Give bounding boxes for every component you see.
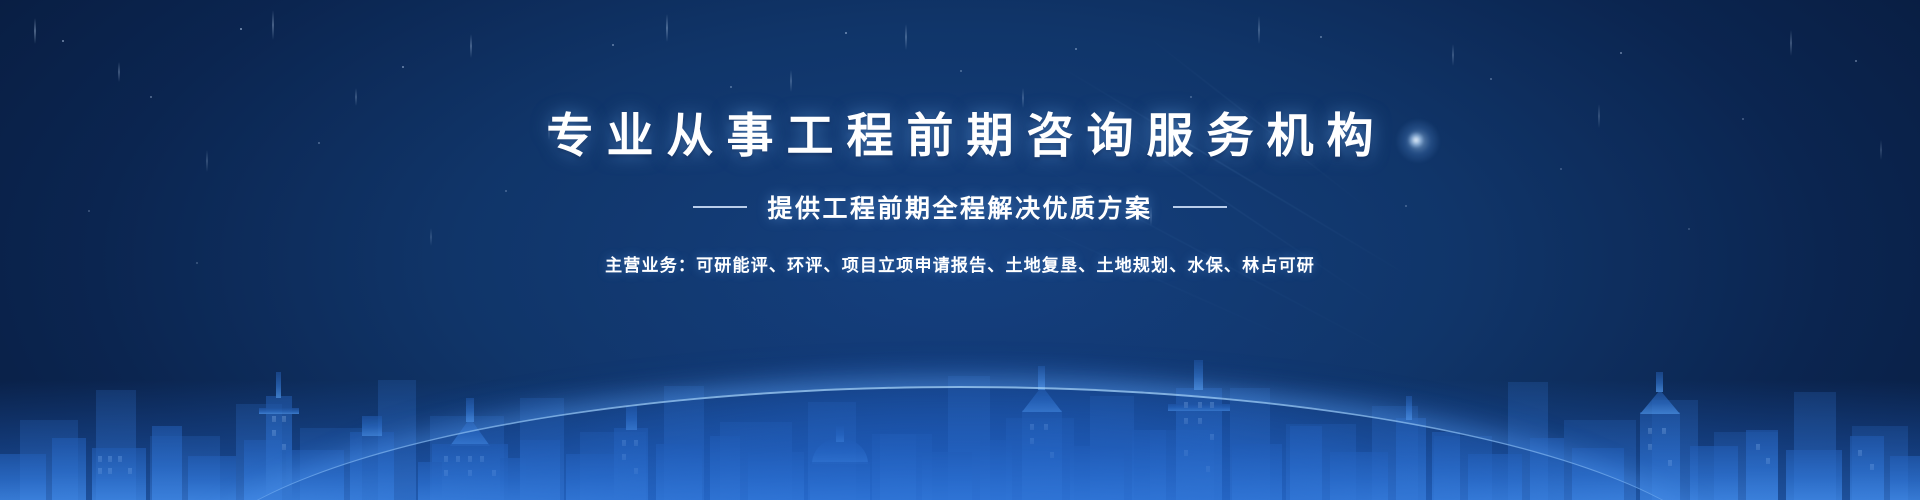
divider-rule-left: [693, 206, 747, 208]
skyline-foreground-layer: [0, 240, 1920, 500]
hero-banner: 专业从事工程前期咨询服务机构 提供工程前期全程解决优质方案 主营业务：可研能评、…: [0, 0, 1920, 500]
banner-subtitle-row: 提供工程前期全程解决优质方案: [0, 189, 1920, 225]
banner-subheadline: 提供工程前期全程解决优质方案: [767, 189, 1152, 225]
divider-rule-right: [1173, 206, 1227, 208]
banner-headline: 专业从事工程前期咨询服务机构: [0, 112, 1920, 159]
banner-text-block: 专业从事工程前期咨询服务机构 提供工程前期全程解决优质方案 主营业务：可研能评、…: [0, 112, 1920, 276]
banner-services-line: 主营业务：可研能评、环评、项目立项申请报告、土地复垦、土地规划、水保、林占可研: [0, 251, 1920, 276]
